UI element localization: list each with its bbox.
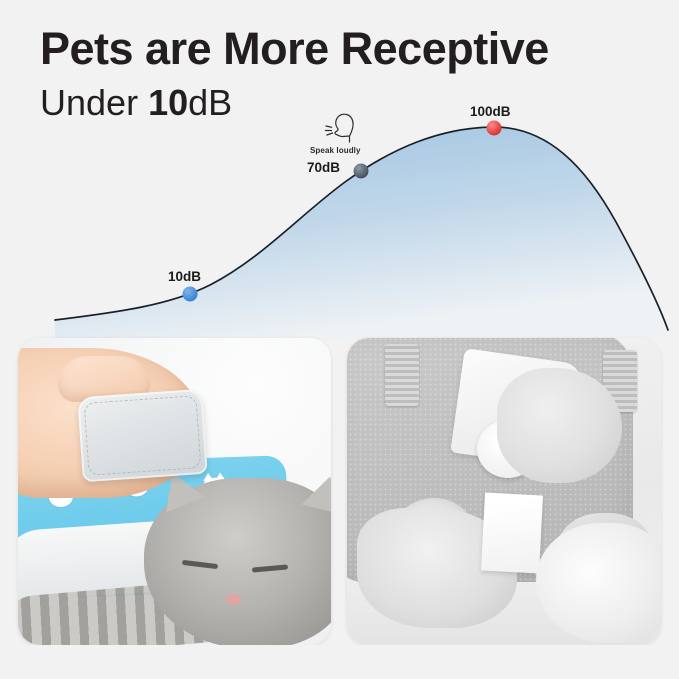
decibel-response-chart: 10dB 70dB Speak loudly 100dB bbox=[0, 0, 679, 340]
label-speak-loudly: Speak loudly bbox=[310, 146, 361, 155]
label-10db: 10dB bbox=[168, 269, 201, 284]
chart-area-fill bbox=[55, 127, 668, 340]
cat-eye-left bbox=[182, 560, 218, 569]
data-point-100db[interactable] bbox=[487, 121, 502, 136]
velcro-tape-strip bbox=[481, 493, 543, 574]
cat-nose bbox=[226, 594, 241, 605]
panel-others[interactable]: 100dB others bbox=[347, 338, 661, 645]
panel-ours[interactable]: 10dB ours bbox=[18, 338, 331, 645]
photo-others bbox=[347, 338, 661, 645]
photo-ours bbox=[18, 338, 331, 645]
data-point-10db[interactable] bbox=[183, 287, 198, 302]
velcro-strap bbox=[385, 344, 419, 406]
sleeping-cat bbox=[144, 478, 331, 645]
infographic-root: Pets are More Receptive Under 10dB bbox=[0, 0, 679, 679]
human-hand-top bbox=[497, 368, 622, 483]
speaking-head-icon bbox=[322, 110, 358, 146]
data-point-70db[interactable] bbox=[354, 164, 369, 179]
label-70db: 70dB bbox=[307, 160, 340, 175]
label-100db: 100dB bbox=[470, 104, 511, 119]
cat-eye-right bbox=[252, 564, 288, 572]
velcro-pad bbox=[77, 389, 208, 483]
bottom-spacer bbox=[0, 645, 679, 679]
